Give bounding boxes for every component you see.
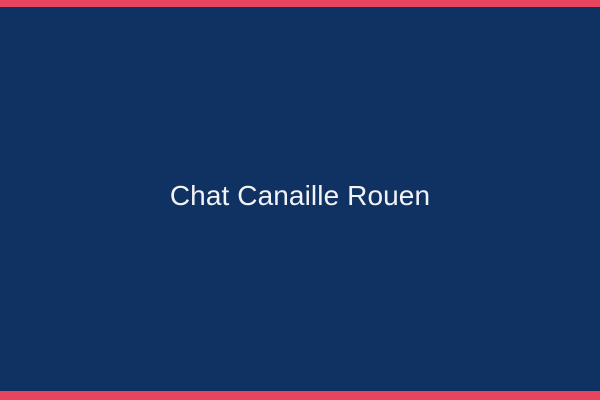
content-stage: Chat Canaille Rouen <box>0 7 600 391</box>
top-accent-band <box>0 0 600 7</box>
page-title: Chat Canaille Rouen <box>170 179 430 213</box>
screenshot-root: Chat Canaille Rouen <box>0 0 600 400</box>
bottom-accent-band <box>0 391 600 400</box>
